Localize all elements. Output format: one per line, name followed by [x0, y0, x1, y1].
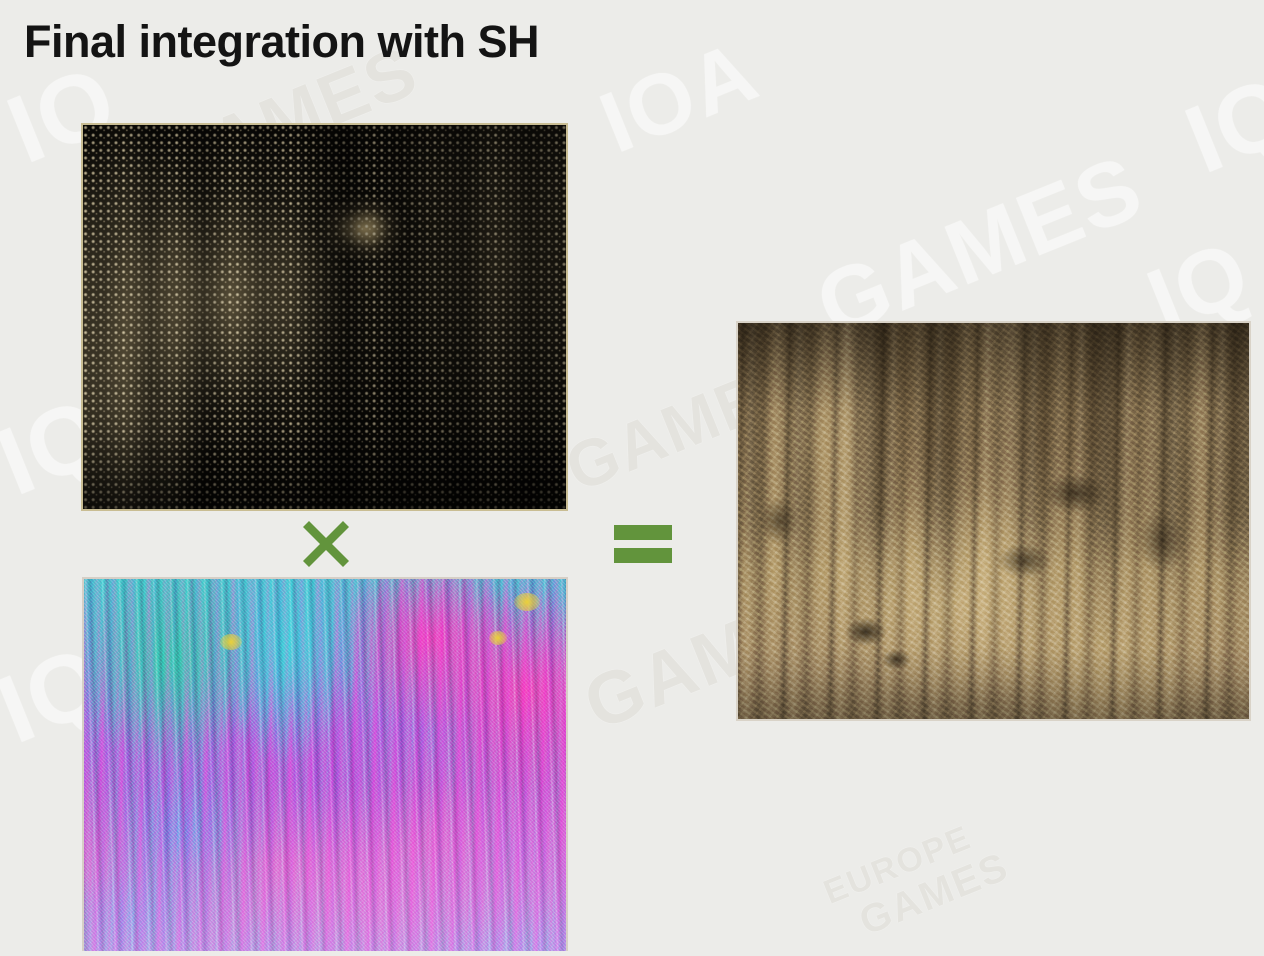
watermark-text: IOA [587, 22, 771, 173]
sh-buffer-vignette [83, 125, 566, 509]
watermark-text: EUROPE [818, 818, 977, 912]
slide-canvas: IQGAMESIOAIQGAMESIQIQGAMESIQGAMESEUROPEG… [0, 0, 1264, 956]
cave-vignette [738, 323, 1249, 719]
multiply-icon [297, 515, 355, 573]
normal-map-image [82, 577, 568, 951]
normal-map-wash [84, 579, 566, 951]
equals-icon [612, 519, 674, 569]
watermark-text: GAMES [853, 844, 1015, 944]
watermark-text: IQ [1171, 54, 1264, 195]
page-title: Final integration with SH [24, 16, 539, 68]
sh-lighting-buffer-image [81, 123, 568, 511]
final-render-image [736, 321, 1251, 721]
